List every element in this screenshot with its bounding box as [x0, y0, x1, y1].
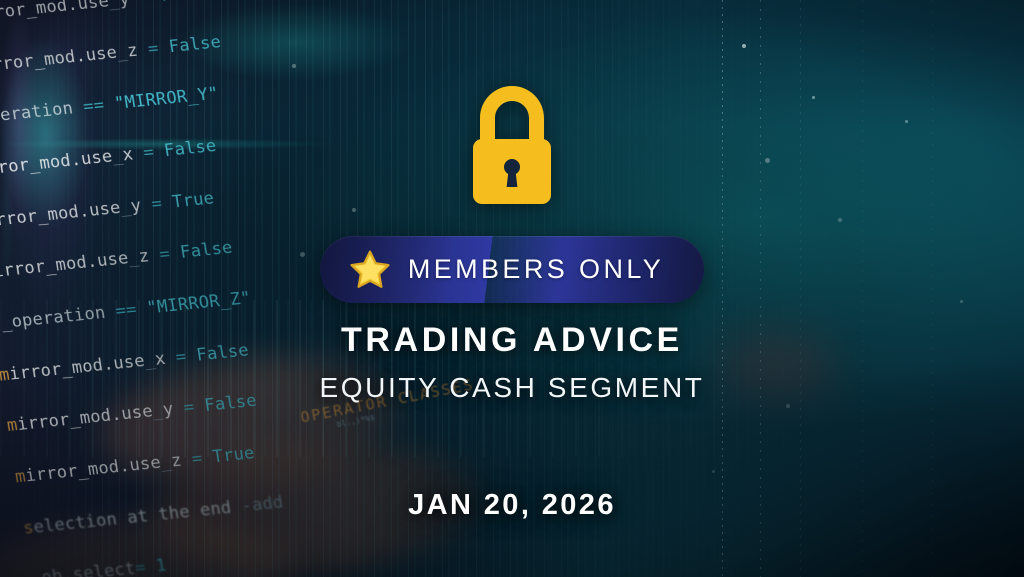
promo-card: ration = "MIRROR_X" mirror_mod.use_x = T… — [0, 0, 1024, 577]
members-only-badge[interactable]: MEMBERS ONLY — [320, 236, 704, 303]
date-label: JAN 20, 2026 — [408, 489, 616, 522]
lock-icon — [466, 84, 558, 206]
page-subtitle: EQUITY CASH SEGMENT — [320, 372, 705, 404]
members-only-label: MEMBERS ONLY — [408, 254, 664, 285]
star-icon — [350, 250, 390, 288]
page-title: TRADING ADVICE — [341, 321, 683, 360]
